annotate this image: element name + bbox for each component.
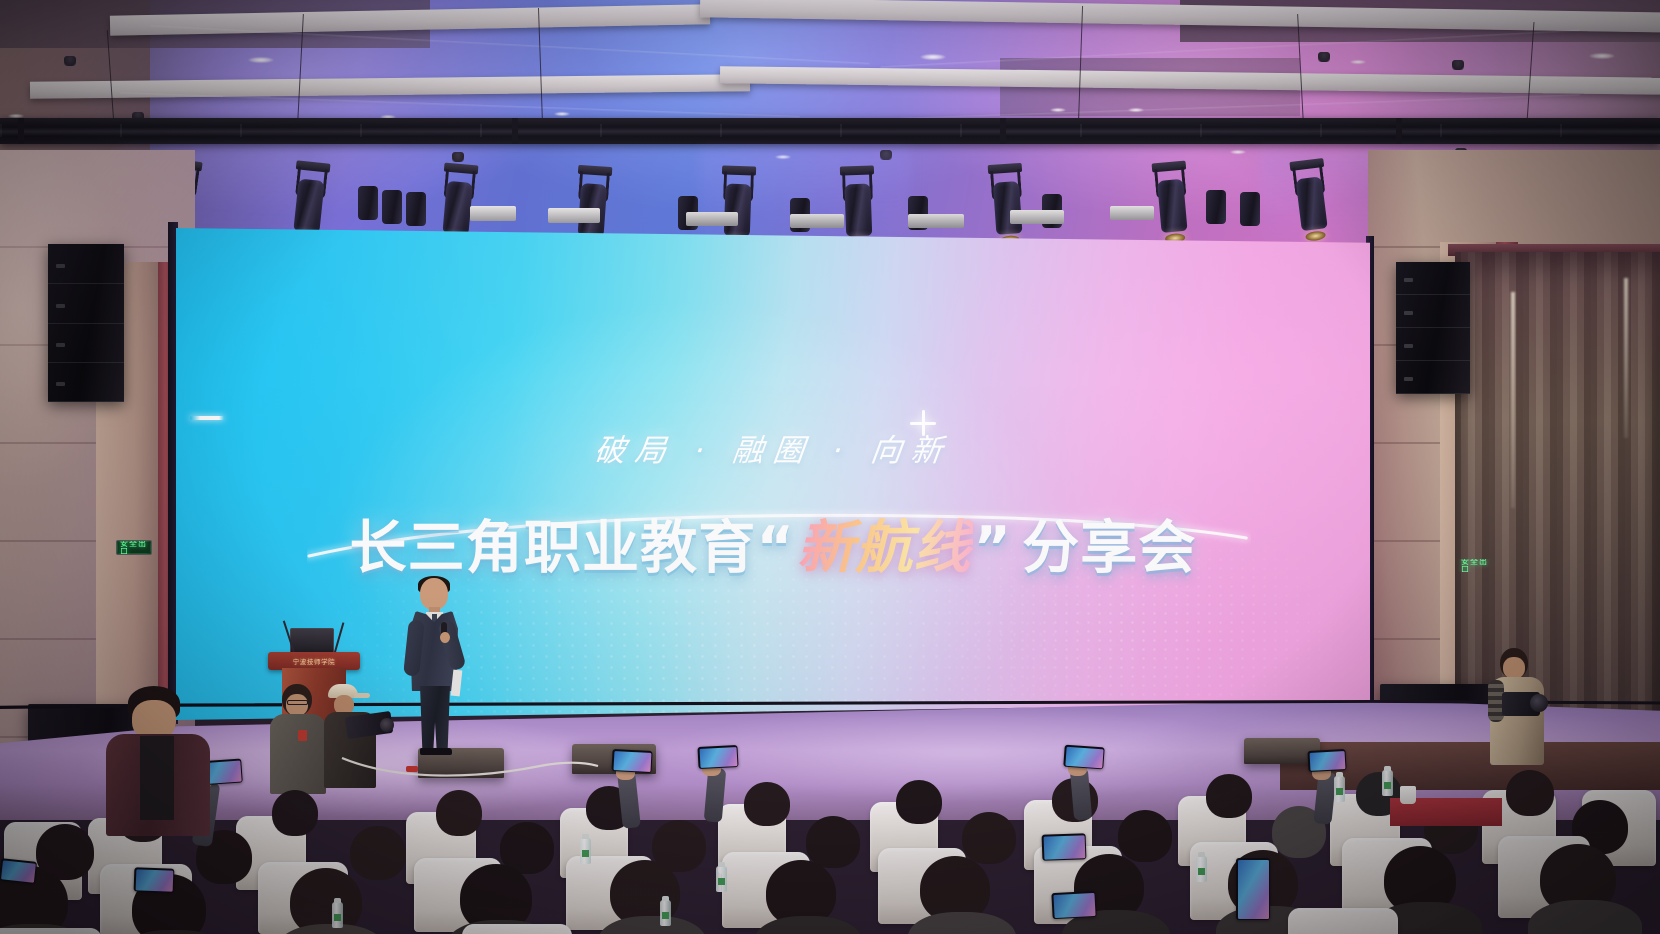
fixture-body: [844, 184, 872, 237]
audience-head: [1206, 774, 1252, 818]
led-panel-fixture: [470, 206, 516, 221]
smartphone-recording: [134, 867, 175, 892]
par-can-light: [382, 190, 402, 224]
ceiling-downlight: [775, 155, 791, 159]
fixture-body: [442, 181, 472, 235]
phone-screen: [1043, 835, 1085, 859]
smartphone-recording: [697, 745, 738, 769]
ceiling-downlight: [1589, 53, 1615, 59]
led-panel-fixture: [908, 214, 964, 228]
led-panel-fixture: [790, 214, 844, 228]
speaker-module: [48, 244, 124, 284]
ceiling-downlight: [248, 57, 274, 63]
sprinkler-head: [880, 150, 892, 160]
ceiling-downlight: [1350, 60, 1366, 64]
crew-glasses: [287, 700, 308, 705]
fixture-body: [1157, 179, 1187, 233]
tea-cup: [1400, 786, 1416, 804]
lighting-truss: [0, 118, 1660, 144]
crew-face: [1503, 657, 1525, 679]
crew-face: [286, 694, 308, 716]
moving-head-light: [719, 171, 755, 244]
title-highlight: 新航线: [795, 502, 973, 584]
phone-screen: [1, 860, 36, 882]
exit-sign-right: 安全出口: [1457, 558, 1493, 573]
title-segment-1: 长三角职业教育: [349, 502, 756, 584]
exit-sign-label: 安全出口: [1461, 561, 1489, 570]
bottle-cap: [1336, 772, 1343, 777]
title-segment-2: 分享会: [1022, 502, 1196, 584]
bottle-cap: [1198, 852, 1205, 857]
line-array-speaker-left: [48, 244, 124, 402]
water-bottle: [1382, 770, 1393, 796]
audience-head: [350, 826, 406, 880]
chair-cover: 职教: [1288, 908, 1398, 934]
bottle-cap: [582, 834, 589, 839]
camera-lens: [1530, 694, 1548, 712]
speaker-module: [48, 363, 124, 402]
smartphone-recording: [0, 858, 37, 884]
chair-cover: 职教: [462, 924, 572, 934]
phone-screen: [1309, 751, 1345, 771]
audience-head: [1506, 770, 1554, 816]
led-panel-fixture: [1110, 206, 1154, 220]
attendee-inner-shirt: [140, 736, 174, 820]
speaker-module: [48, 284, 124, 324]
water-bottle: [580, 838, 591, 864]
fixture-body: [724, 184, 752, 237]
bottle-cap: [662, 896, 669, 901]
sprinkler-head: [1318, 52, 1330, 62]
phone-screen: [699, 747, 737, 768]
phone-screen: [1053, 892, 1095, 917]
presenter-notes: [451, 670, 463, 697]
smartphone-recording: [611, 749, 652, 773]
audience-head: [1118, 810, 1172, 862]
audience-head: [436, 790, 482, 836]
auditorium-scene: 安全出口 安全出口: [0, 0, 1660, 934]
water-bottle: [716, 866, 727, 892]
fixture-body: [993, 181, 1023, 235]
led-panel-fixture: [1010, 210, 1064, 224]
audience-head: [272, 790, 318, 836]
moving-head-light: [840, 171, 876, 244]
ceiling-downlight: [920, 54, 946, 60]
event-title: 长三角职业教育 “ 新航线 ” 分享会: [349, 502, 1196, 584]
ceiling-downlight: [1128, 108, 1144, 112]
phone-screen: [1065, 746, 1103, 768]
moving-head-light: [1152, 167, 1192, 242]
par-can-light: [1240, 192, 1260, 226]
smartphone-recording: [1051, 891, 1096, 919]
water-bottle: [1196, 856, 1207, 882]
water-bottle: [1334, 776, 1345, 802]
fixture-body: [293, 179, 324, 233]
truss-node: [18, 118, 24, 144]
bottle-cap: [1384, 766, 1391, 771]
moving-head-light: [988, 169, 1027, 243]
attendee-standing-left: [104, 686, 214, 836]
speaker-module: [48, 324, 124, 363]
phone-screen: [613, 751, 651, 772]
phone-screen: [1238, 860, 1269, 919]
curtain-light-slit: [1511, 292, 1515, 508]
speaker-module: [1396, 295, 1470, 328]
truss-node: [512, 118, 518, 144]
presenter-head: [420, 578, 448, 610]
audience-seating: 职教 职教 职教: [0, 738, 1660, 934]
curtain-light-slit: [1624, 278, 1628, 438]
truss-lattice: [0, 124, 1660, 137]
ceiling-downlight: [554, 112, 570, 116]
bottle-cap: [718, 862, 725, 867]
audience-head: [744, 782, 790, 826]
audience-head: [896, 780, 942, 824]
ceiling-downlight: [1230, 150, 1246, 154]
smartphone-recording: [1063, 745, 1104, 770]
truss-node: [1396, 118, 1402, 144]
chair-cover: 职教: [0, 928, 102, 934]
cap-brim: [354, 693, 370, 698]
event-subtitle: 破局 · 融圈 · 向新: [592, 425, 954, 470]
camera-lens: [380, 718, 394, 732]
smartphone-recording: [1042, 833, 1087, 861]
sprinkler-head: [64, 56, 76, 66]
line-array-speaker-right: [1396, 262, 1470, 394]
podium-institution-label: 宁波技师学院: [268, 656, 360, 666]
presenter-on-stage: [404, 578, 464, 756]
exit-sign-label: 安全出口: [120, 543, 148, 552]
exit-sign-left: 安全出口: [116, 540, 152, 555]
audience-head: [962, 812, 1016, 864]
truss-node: [1000, 118, 1006, 144]
par-can-light: [358, 186, 378, 220]
bottle-cap: [334, 898, 341, 903]
title-quote-close: ”: [973, 515, 1012, 581]
title-quote-open: “: [756, 515, 795, 581]
audience-head: [806, 816, 860, 868]
par-can-light: [1206, 190, 1226, 224]
speaker-module: [1396, 361, 1470, 394]
ceiling-downlight: [1050, 108, 1066, 112]
speaker-module: [1396, 262, 1470, 295]
led-panel-fixture: [548, 208, 600, 223]
podium-laptop: [290, 628, 334, 654]
smartphone-recording: [1307, 749, 1346, 772]
speaker-module: [1396, 328, 1470, 361]
par-can-light: [406, 192, 426, 226]
led-panel-fixture: [686, 212, 738, 226]
sprinkler-head: [1452, 60, 1464, 70]
presenter-hand: [440, 632, 450, 643]
water-bottle: [332, 902, 343, 928]
podium-microphone: [334, 622, 345, 653]
smartphone-recording: [1236, 858, 1270, 920]
phone-screen: [135, 869, 173, 891]
water-bottle: [660, 900, 671, 926]
sprinkler-head: [452, 152, 464, 162]
